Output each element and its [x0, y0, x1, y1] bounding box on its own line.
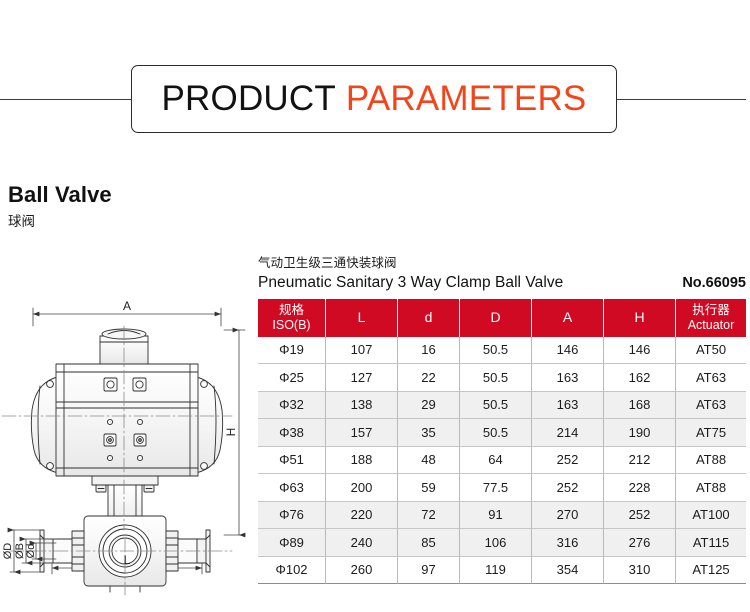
table-cell: 228	[604, 474, 676, 502]
table-cell: 48	[398, 447, 460, 475]
table-cell: 220	[326, 502, 398, 530]
table-cell: 22	[398, 364, 460, 392]
table-cell: 50.5	[460, 364, 532, 392]
table-row: Φ321382950.5163168AT63	[258, 392, 746, 420]
spec-title-chinese: 气动卫生级三通快装球阀	[258, 256, 746, 272]
table-cell: 106	[460, 529, 532, 557]
table-cell: 127	[326, 364, 398, 392]
table-header-cell-h: H	[604, 299, 676, 337]
table-cell: AT115	[676, 529, 746, 557]
table-row: Φ10226097119354310AT125	[258, 557, 746, 585]
page-title-parameters: PARAMETERS	[346, 79, 587, 118]
table-cell: 146	[532, 337, 604, 365]
table-cell: AT125	[676, 557, 746, 585]
header-label: d	[425, 309, 433, 325]
table-cell: 260	[326, 557, 398, 585]
table-row: Φ191071650.5146146AT50	[258, 337, 746, 365]
dimension-label-l: L	[124, 553, 131, 567]
table-cell: 252	[532, 447, 604, 475]
table-header-cell-iso-b-: 规格ISO(B)	[258, 299, 326, 337]
table-cell: AT88	[676, 474, 746, 502]
table-cell: 97	[398, 557, 460, 585]
table-cell-spec: Φ32	[258, 392, 326, 420]
table-cell: 168	[604, 392, 676, 420]
table-header-cell-d: D	[460, 299, 532, 337]
table-cell: 163	[532, 392, 604, 420]
valve-technical-drawing: A H L ØD ØB Ød	[0, 298, 252, 598]
table-row: Φ381573550.5214190AT75	[258, 419, 746, 447]
product-name-english: Ball Valve	[8, 182, 308, 208]
specification-table: 规格ISO(B)LdDAH执行器Actuator Φ191071650.5146…	[258, 299, 746, 585]
table-cell: 200	[326, 474, 398, 502]
product-name-block: Ball Valve 球阀	[8, 182, 308, 230]
dimension-label-od-small: Ød	[25, 544, 37, 559]
table-cell: 163	[532, 364, 604, 392]
table-cell: 276	[604, 529, 676, 557]
spec-title-row: Pneumatic Sanitary 3 Way Clamp Ball Valv…	[258, 274, 746, 292]
header-label: A	[563, 309, 572, 325]
table-row: Φ8924085106316276AT115	[258, 529, 746, 557]
table-cell: AT50	[676, 337, 746, 365]
table-cell: 50.5	[460, 419, 532, 447]
page-title-product: PRODUCT	[162, 79, 336, 118]
table-cell: 77.5	[460, 474, 532, 502]
table-cell: 162	[604, 364, 676, 392]
table-header-cell-d: d	[398, 299, 460, 337]
table-cell: 354	[532, 557, 604, 585]
table-cell: 50.5	[460, 392, 532, 420]
specification-area: 气动卫生级三通快装球阀 Pneumatic Sanitary 3 Way Cla…	[258, 256, 746, 584]
table-cell: 107	[326, 337, 398, 365]
table-cell: AT63	[676, 392, 746, 420]
table-header: 规格ISO(B)LdDAH执行器Actuator	[258, 299, 746, 337]
table-cell: 214	[532, 419, 604, 447]
table-row: Φ632005977.5252228AT88	[258, 474, 746, 502]
table-cell: 190	[604, 419, 676, 447]
dimension-label-a: A	[123, 299, 131, 313]
table-cell: 91	[460, 502, 532, 530]
table-cell-spec: Φ25	[258, 364, 326, 392]
table-header-cell-a: A	[532, 299, 604, 337]
table-cell: 146	[604, 337, 676, 365]
table-row: Φ511884864252212AT88	[258, 447, 746, 475]
table-cell-spec: Φ102	[258, 557, 326, 585]
table-cell: 35	[398, 419, 460, 447]
table-header-cell-l: L	[326, 299, 398, 337]
table-cell: 252	[604, 502, 676, 530]
table-cell: 316	[532, 529, 604, 557]
table-cell: 16	[398, 337, 460, 365]
header-label-english: ISO(B)	[260, 318, 323, 333]
valve-drawing-svg: A H L ØD ØB Ød	[0, 298, 252, 598]
table-cell: AT75	[676, 419, 746, 447]
spec-model-number: No.66095	[670, 275, 746, 291]
table-cell: 270	[532, 502, 604, 530]
spec-title-english: Pneumatic Sanitary 3 Way Clamp Ball Valv…	[258, 274, 563, 292]
table-cell: 240	[326, 529, 398, 557]
table-cell-spec: Φ76	[258, 502, 326, 530]
table-cell: 50.5	[460, 337, 532, 365]
product-name-chinese: 球阀	[8, 214, 308, 230]
table-cell: 29	[398, 392, 460, 420]
page-banner: PRODUCT PARAMETERS	[0, 60, 750, 140]
table-cell: AT88	[676, 447, 746, 475]
header-label: D	[490, 309, 500, 325]
table-header-row: 规格ISO(B)LdDAH执行器Actuator	[258, 299, 746, 337]
page-title: PRODUCT PARAMETERS	[162, 79, 587, 119]
table-cell: 212	[604, 447, 676, 475]
table-cell: 72	[398, 502, 460, 530]
table-row: Φ251272250.5163162AT63	[258, 364, 746, 392]
table-cell: 119	[460, 557, 532, 585]
table-header-cell-actuator: 执行器Actuator	[676, 299, 746, 337]
table-cell-spec: Φ89	[258, 529, 326, 557]
header-label-chinese: 执行器	[678, 303, 744, 318]
table-cell: 138	[326, 392, 398, 420]
table-cell-spec: Φ38	[258, 419, 326, 447]
table-cell: 188	[326, 447, 398, 475]
banner-rule-left	[0, 99, 133, 100]
table-cell: 59	[398, 474, 460, 502]
table-cell: 64	[460, 447, 532, 475]
table-cell-spec: Φ63	[258, 474, 326, 502]
header-label-chinese: 规格	[260, 303, 323, 318]
dimension-label-od: ØD	[2, 543, 14, 560]
table-cell: AT100	[676, 502, 746, 530]
header-label-english: Actuator	[678, 318, 744, 333]
table-cell: 252	[532, 474, 604, 502]
table-cell-spec: Φ51	[258, 447, 326, 475]
header-label: H	[634, 309, 644, 325]
banner-rule-right	[615, 99, 746, 100]
table-cell: 85	[398, 529, 460, 557]
dimension-label-h: H	[224, 428, 238, 437]
table-cell: 157	[326, 419, 398, 447]
table-body: Φ191071650.5146146AT50Φ251272250.5163162…	[258, 337, 746, 585]
banner-box: PRODUCT PARAMETERS	[131, 65, 617, 133]
header-label: L	[358, 309, 366, 325]
table-cell: AT63	[676, 364, 746, 392]
table-cell: 310	[604, 557, 676, 585]
table-cell-spec: Φ19	[258, 337, 326, 365]
table-row: Φ762207291270252AT100	[258, 502, 746, 530]
